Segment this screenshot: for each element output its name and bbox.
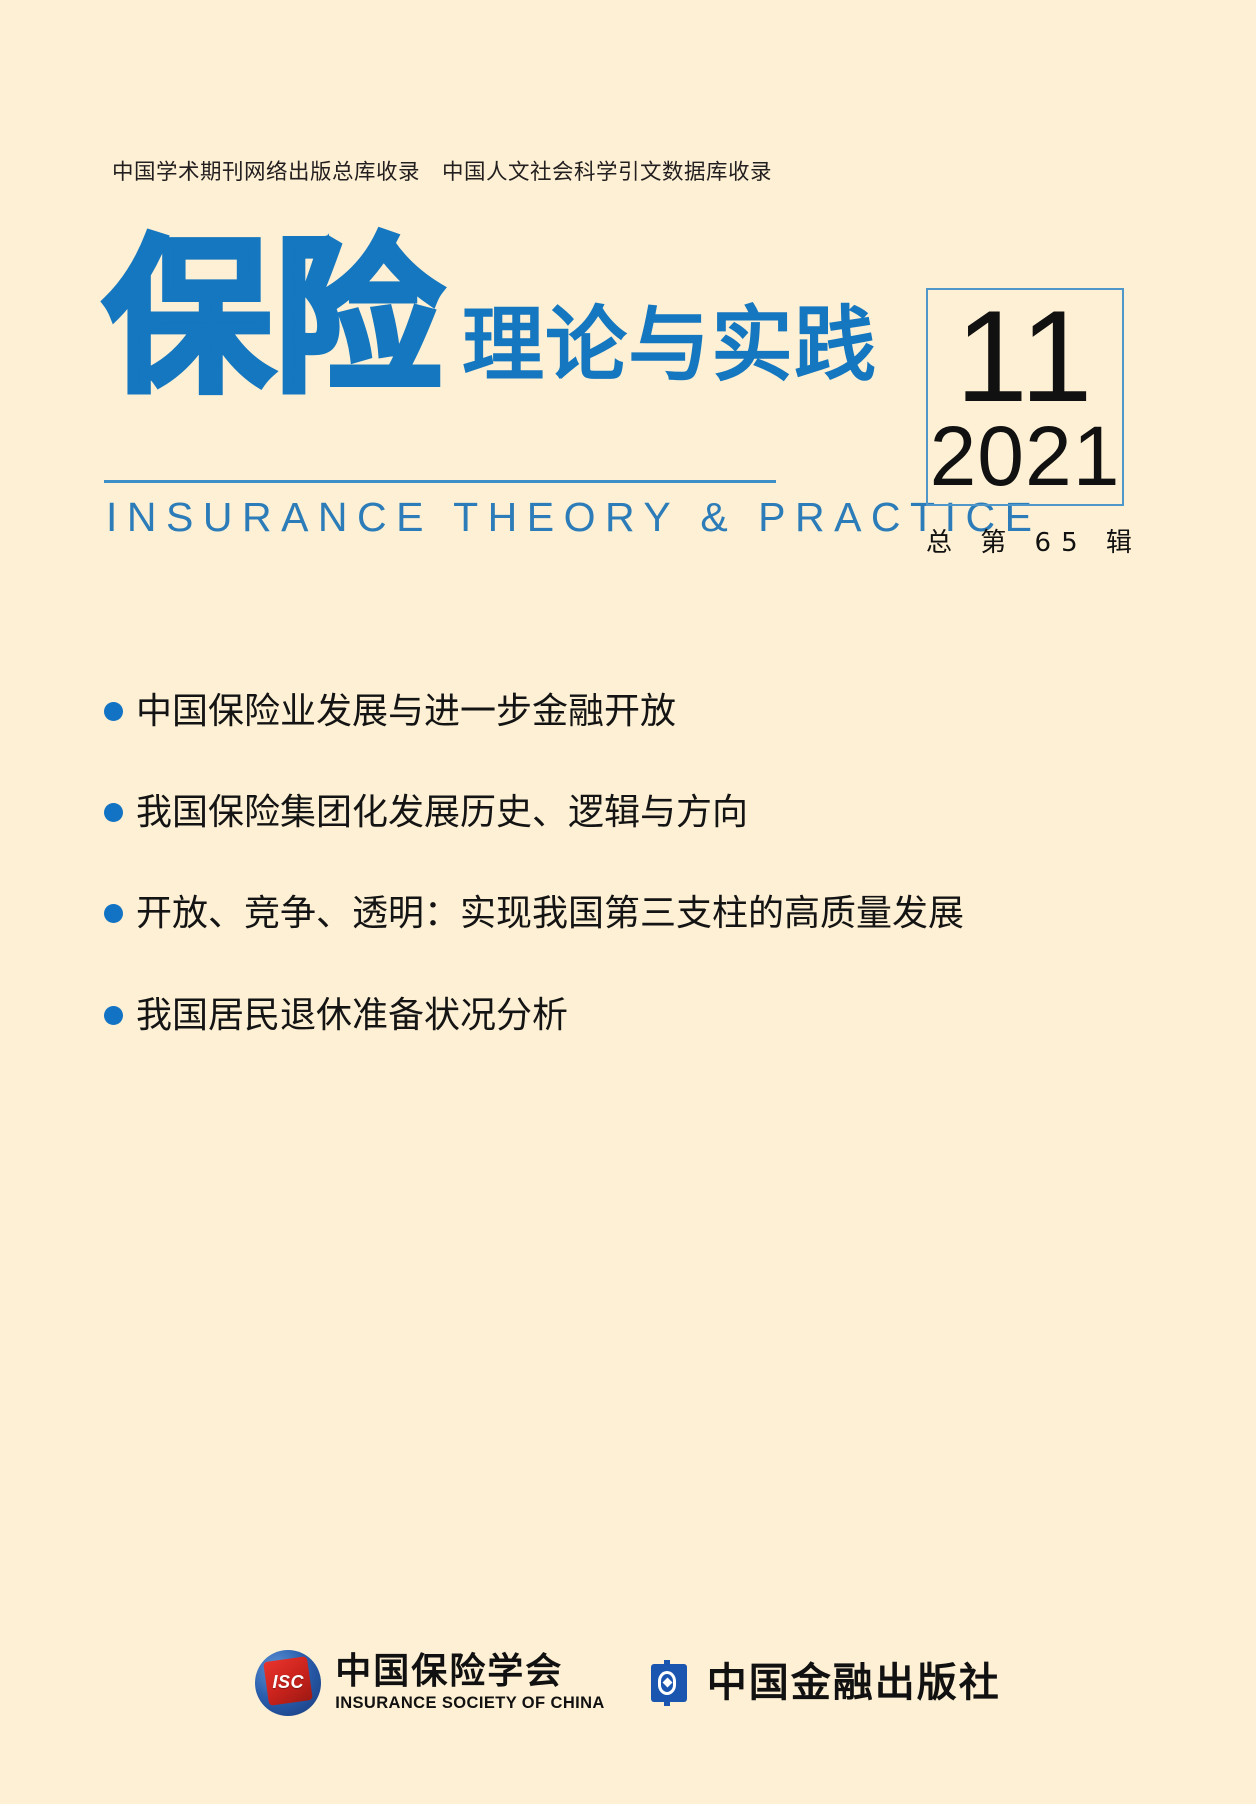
article-title: 我国居民退休准备状况分析 (136, 994, 568, 1037)
publisher-name-cn: 中国金融出版社 (707, 1663, 1001, 1703)
journal-cover: 中国学术期刊网络出版总库收录中国人文社会科学引文数据库收录 保险 理论与实践 I… (0, 0, 1256, 1804)
masthead-divider (104, 480, 776, 483)
publisher-name-cn: 中国保险学会 (335, 1653, 605, 1691)
isc-logo-icon: ISC (255, 1650, 321, 1716)
china-financial-publishing-logo-icon (647, 1660, 691, 1706)
publisher-name-en: INSURANCE SOCIETY OF CHINA (335, 1694, 605, 1713)
issue-number: 11 (928, 286, 1122, 426)
issue-box: 11 2021 (926, 288, 1124, 506)
indexing-databases: 中国学术期刊网络出版总库收录中国人文社会科学引文数据库收录 (112, 155, 772, 186)
article-title: 中国保险业发展与进一步金融开放 (136, 690, 676, 733)
issue-serial-number: 总 第 65 辑 (926, 522, 1124, 559)
publisher-china-financial-publishing-house: 中国金融出版社 (647, 1660, 1001, 1706)
article-title: 开放、竞争、透明：实现我国第三支柱的高质量发展 (136, 892, 964, 935)
list-item[interactable]: 我国居民退休准备状况分析 (104, 994, 1104, 1037)
indexing-database-2: 中国人文社会科学引文数据库收录 (442, 160, 772, 185)
masthead: 保险 理论与实践 INSURANCE THEORY & PRACTICE (104, 236, 784, 516)
journal-title-cjk: 保险 (104, 236, 444, 401)
journal-subtitle-cjk: 理论与实践 (462, 305, 877, 401)
indexing-database-1: 中国学术期刊网络出版总库收录 (112, 160, 420, 185)
article-title: 我国保险集团化发展历史、逻辑与方向 (136, 791, 748, 834)
publisher-footer: ISC 中国保险学会 INSURANCE SOCIETY OF CHINA 中国… (0, 1650, 1256, 1716)
cfph-bottom-bar-shape (664, 1701, 670, 1706)
list-item[interactable]: 中国保险业发展与进一步金融开放 (104, 690, 1104, 733)
bullet-dot-icon (104, 803, 123, 822)
publisher-insurance-society-of-china: ISC 中国保险学会 INSURANCE SOCIETY OF CHINA (255, 1650, 605, 1716)
masthead-title-row: 保险 理论与实践 (104, 236, 877, 401)
isc-monogram: ISC (255, 1672, 321, 1693)
issue-year: 2021 (928, 414, 1122, 498)
list-item[interactable]: 开放、竞争、透明：实现我国第三支柱的高质量发展 (104, 892, 1104, 935)
isc-name-block: 中国保险学会 INSURANCE SOCIETY OF CHINA (335, 1653, 605, 1714)
bullet-dot-icon (104, 904, 123, 923)
contents-list: 中国保险业发展与进一步金融开放 我国保险集团化发展历史、逻辑与方向 开放、竞争、… (104, 690, 1104, 1095)
bullet-dot-icon (104, 1006, 123, 1025)
list-item[interactable]: 我国保险集团化发展历史、逻辑与方向 (104, 791, 1104, 834)
journal-title-en: INSURANCE THEORY & PRACTICE (106, 494, 1041, 541)
bullet-dot-icon (104, 702, 123, 721)
